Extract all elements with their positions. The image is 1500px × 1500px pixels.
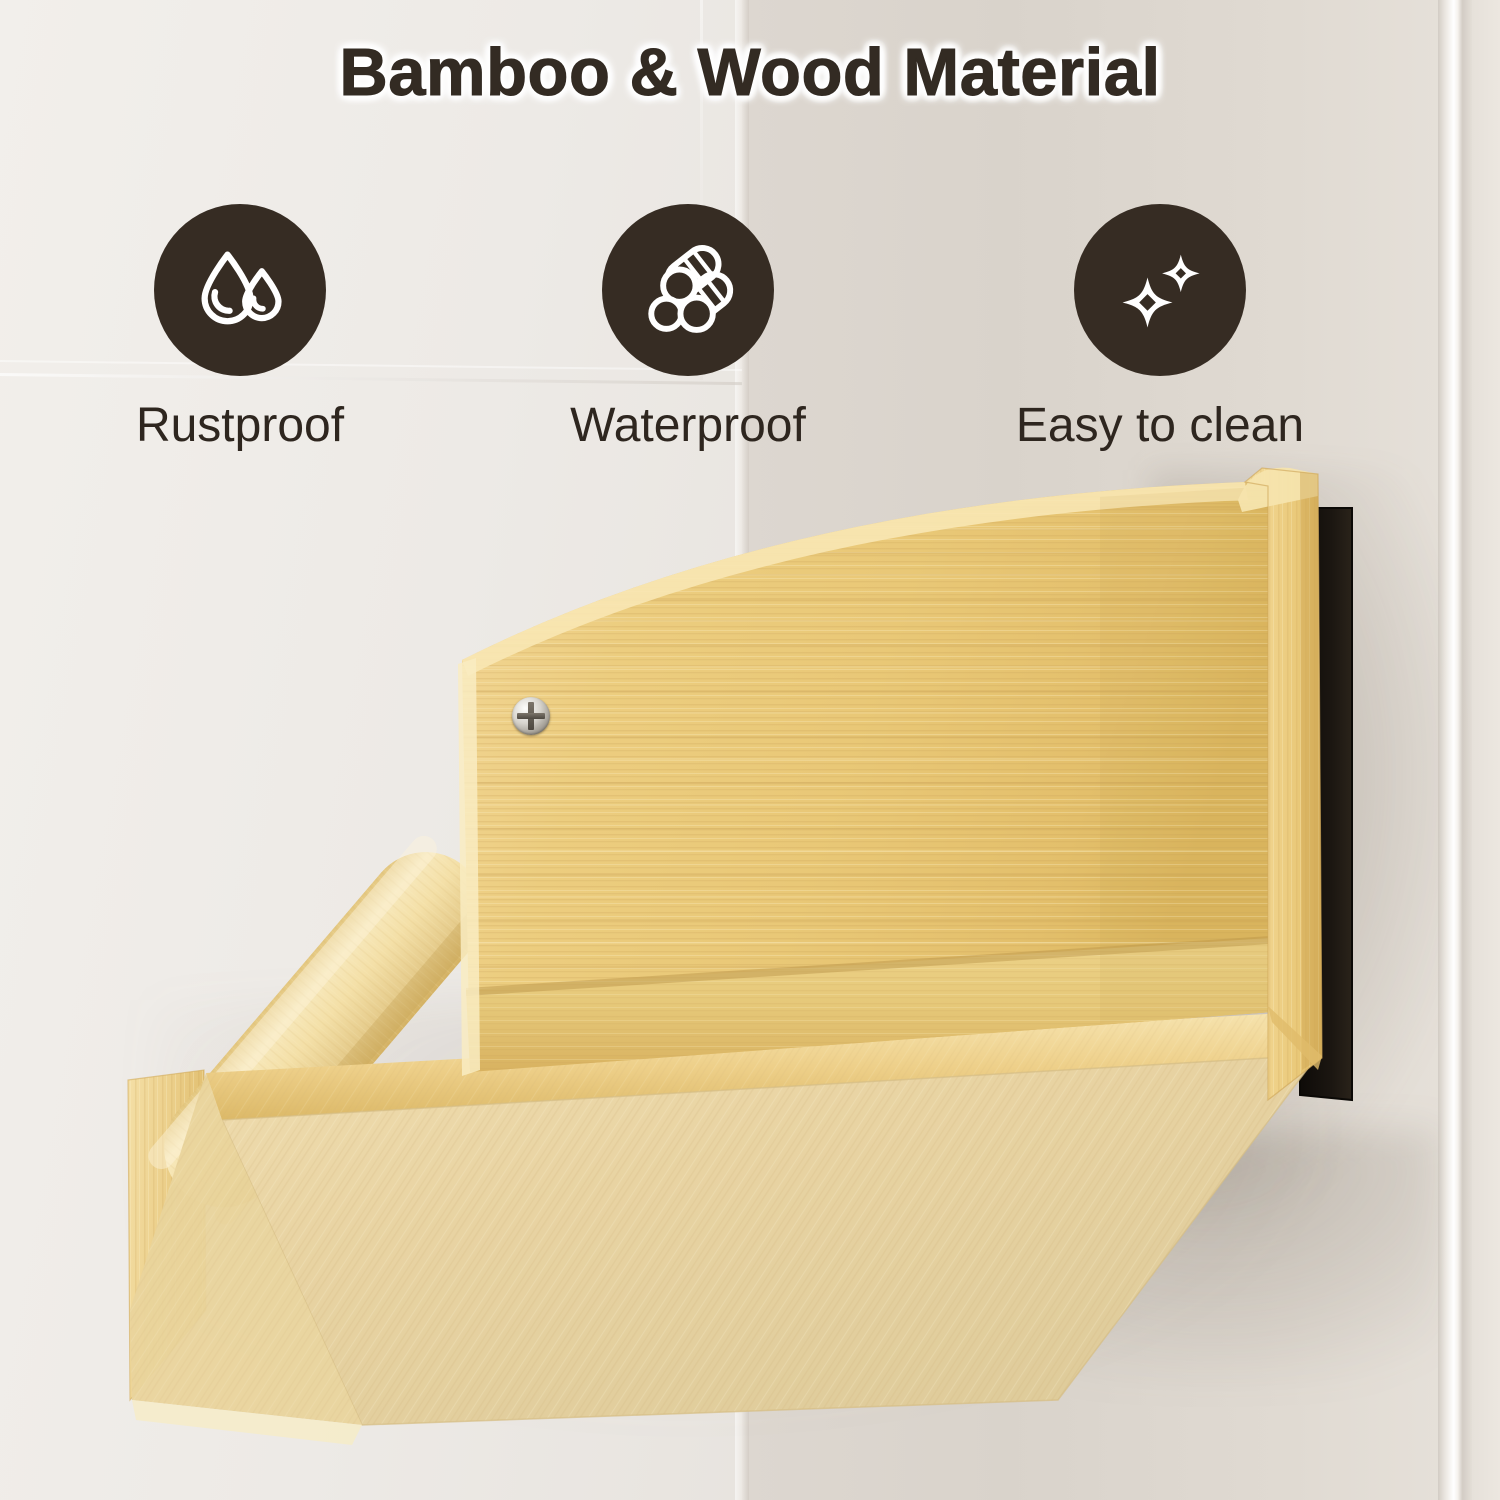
- feature-label: Rustproof: [75, 398, 405, 453]
- shelf-base: [130, 1012, 1318, 1445]
- sparkle-icon: [1108, 238, 1212, 342]
- stacked-logs-icon: [634, 236, 742, 344]
- feature-label: Easy to clean: [995, 398, 1325, 453]
- product-marketing-image: Bamboo & Wood Material Rustproof: [0, 0, 1500, 1500]
- feature-badge-circle: [154, 204, 326, 376]
- feature-label: Waterproof: [523, 398, 853, 453]
- phillips-screw: [512, 697, 550, 735]
- feature-easy-to-clean: Easy to clean: [995, 204, 1325, 453]
- page-title: Bamboo & Wood Material: [0, 34, 1500, 111]
- feature-waterproof: Waterproof: [523, 204, 853, 453]
- feature-rustproof: Rustproof: [75, 204, 405, 453]
- vertical-metal-trim: [1438, 0, 1472, 1500]
- water-drops-icon: [188, 238, 292, 342]
- feature-badge-circle: [1074, 204, 1246, 376]
- far-right-wall: [1472, 0, 1500, 1500]
- front-panel: [458, 482, 1272, 1076]
- feature-badge-circle: [602, 204, 774, 376]
